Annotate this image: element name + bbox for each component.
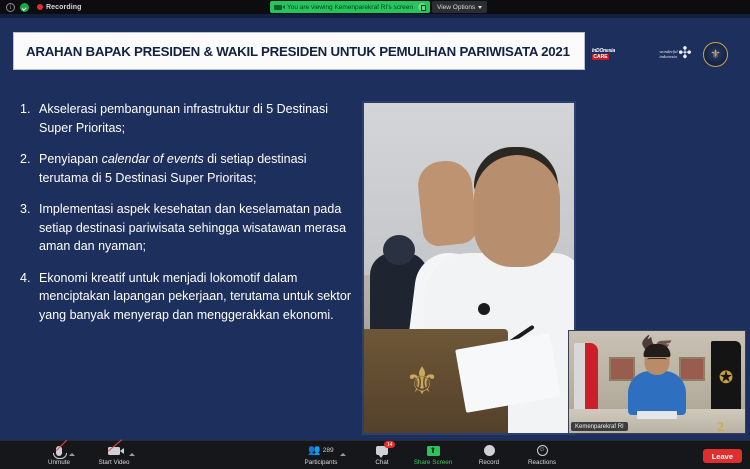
recording-indicator[interactable]: Recording xyxy=(37,4,82,11)
lock-icon xyxy=(418,3,426,11)
leave-button[interactable]: Leave xyxy=(703,449,742,463)
unmute-button[interactable]: Unmute xyxy=(30,444,88,466)
reactions-emoji-icon: ☺ xyxy=(537,444,548,457)
bullet-text: Implementasi aspek kesehatan dan keselam… xyxy=(39,200,355,256)
info-icon[interactable]: i xyxy=(6,3,15,12)
wonderful-indonesia-line2: indonesia xyxy=(659,54,677,59)
kemenparekraf-emblem-icon: ⚜ xyxy=(703,42,728,67)
slide-logo-group: InDOnesia CARE wonderful indonesia ✣ ⚜ xyxy=(592,40,742,68)
list-item: 1. Akselerasi pembangunan infrastruktur … xyxy=(20,100,355,137)
chat-unread-badge: 14 xyxy=(384,441,395,448)
record-circle-icon xyxy=(484,444,495,457)
chevron-down-icon xyxy=(478,6,482,9)
unmute-label: Unmute xyxy=(48,459,70,466)
chevron-up-icon[interactable] xyxy=(129,453,135,456)
share-screen-label: Share Screen xyxy=(414,459,453,466)
bullet-number: 1. xyxy=(20,100,39,137)
participants-count: 289 xyxy=(323,447,334,454)
share-banner-text: You are viewing Kemenparekraf RI's scree… xyxy=(286,4,414,11)
slide-bullet-list: 1. Akselerasi pembangunan infrastruktur … xyxy=(20,100,355,337)
start-video-button[interactable]: Start Video xyxy=(85,444,143,466)
recording-dot-icon xyxy=(37,4,43,10)
chat-label: Chat xyxy=(375,459,388,466)
bullet-text: Ekonomi kreatif untuk menjadi lokomotif … xyxy=(39,269,355,325)
chat-bubble-icon: 14 xyxy=(376,444,388,457)
wonderful-indonesia-bird-icon: ✣ xyxy=(676,44,694,63)
view-options-button[interactable]: View Options xyxy=(432,1,487,13)
microphone-muted-icon xyxy=(56,444,62,457)
zoom-meeting-window: i Recording You are viewing Kemenparekra… xyxy=(0,0,750,469)
bullet-number: 3. xyxy=(20,200,39,256)
thumbnail-person-face xyxy=(645,347,670,375)
indonesia-care-line2: CARE xyxy=(592,54,609,60)
bullet-text: Akselerasi pembangunan infrastruktur di … xyxy=(39,100,355,137)
camera-icon xyxy=(274,5,282,10)
slide-title: ARAHAN BAPAK PRESIDEN & WAKIL PRESIDEN U… xyxy=(26,44,570,59)
reactions-button[interactable]: ☺ Reactions xyxy=(513,444,571,466)
share-screen-button[interactable]: ⬆ Share Screen xyxy=(404,444,462,466)
record-button[interactable]: Record xyxy=(460,444,518,466)
bullet-number: 4. xyxy=(20,269,39,325)
bullet-text: Penyiapan calendar of events di setiap d… xyxy=(39,150,355,187)
top-bar-left-group: i Recording xyxy=(0,3,82,12)
thumbnail-laptop xyxy=(637,411,677,419)
shared-screen-stage[interactable]: ARAHAN BAPAK PRESIDEN & WAKIL PRESIDEN U… xyxy=(0,14,750,440)
shield-check-icon[interactable] xyxy=(20,3,29,12)
participant-video-thumbnail[interactable]: 🦅 Kemenparekraf RI xyxy=(568,330,746,434)
recording-label: Recording xyxy=(46,4,82,11)
slide-title-box: ARAHAN BAPAK PRESIDEN & WAKIL PRESIDEN U… xyxy=(14,33,584,69)
list-item: 4. Ekonomi kreatif untuk menjadi lokomot… xyxy=(20,269,355,325)
wonderful-indonesia-logo: wonderful indonesia ✣ xyxy=(645,43,692,65)
camera-off-icon xyxy=(108,444,120,457)
share-screen-icon: ⬆ xyxy=(427,444,440,457)
list-item: 3. Implementasi aspek kesehatan dan kese… xyxy=(20,200,355,256)
participants-button[interactable]: 👥 289 Participants xyxy=(292,444,350,466)
list-item: 2. Penyiapan calendar of events di setia… xyxy=(20,150,355,187)
participant-name-label: Kemenparekraf RI xyxy=(571,422,628,431)
people-icon: 👥 289 xyxy=(308,444,333,457)
slide-page-number: 2 xyxy=(717,420,724,436)
photo-microphone-head xyxy=(478,303,490,315)
indonesia-care-logo: InDOnesia CARE xyxy=(592,47,634,62)
wall-portrait-left xyxy=(609,357,635,381)
bullet-number: 2. xyxy=(20,150,39,187)
photo-podium-emblem-icon: ⚜ xyxy=(398,357,446,407)
reactions-label: Reactions xyxy=(528,459,556,466)
view-options-label: View Options xyxy=(437,4,475,11)
presentation-slide: ARAHAN BAPAK PRESIDEN & WAKIL PRESIDEN U… xyxy=(0,14,750,440)
chevron-up-icon[interactable] xyxy=(69,453,75,456)
chat-button[interactable]: 14 Chat xyxy=(353,444,411,466)
participants-label: Participants xyxy=(305,459,338,466)
screen-share-banner: You are viewing Kemenparekraf RI's scree… xyxy=(270,1,430,13)
photo-face xyxy=(474,155,560,267)
meeting-toolbar: Unmute Start Video 👥 289 Participants 14… xyxy=(0,440,750,469)
thumbnail-person xyxy=(628,371,686,415)
start-video-label: Start Video xyxy=(98,459,129,466)
wall-portrait-right xyxy=(679,357,705,381)
chevron-up-icon[interactable] xyxy=(340,453,346,456)
president-photo: ⚜ xyxy=(362,101,576,435)
record-label: Record xyxy=(479,459,499,466)
